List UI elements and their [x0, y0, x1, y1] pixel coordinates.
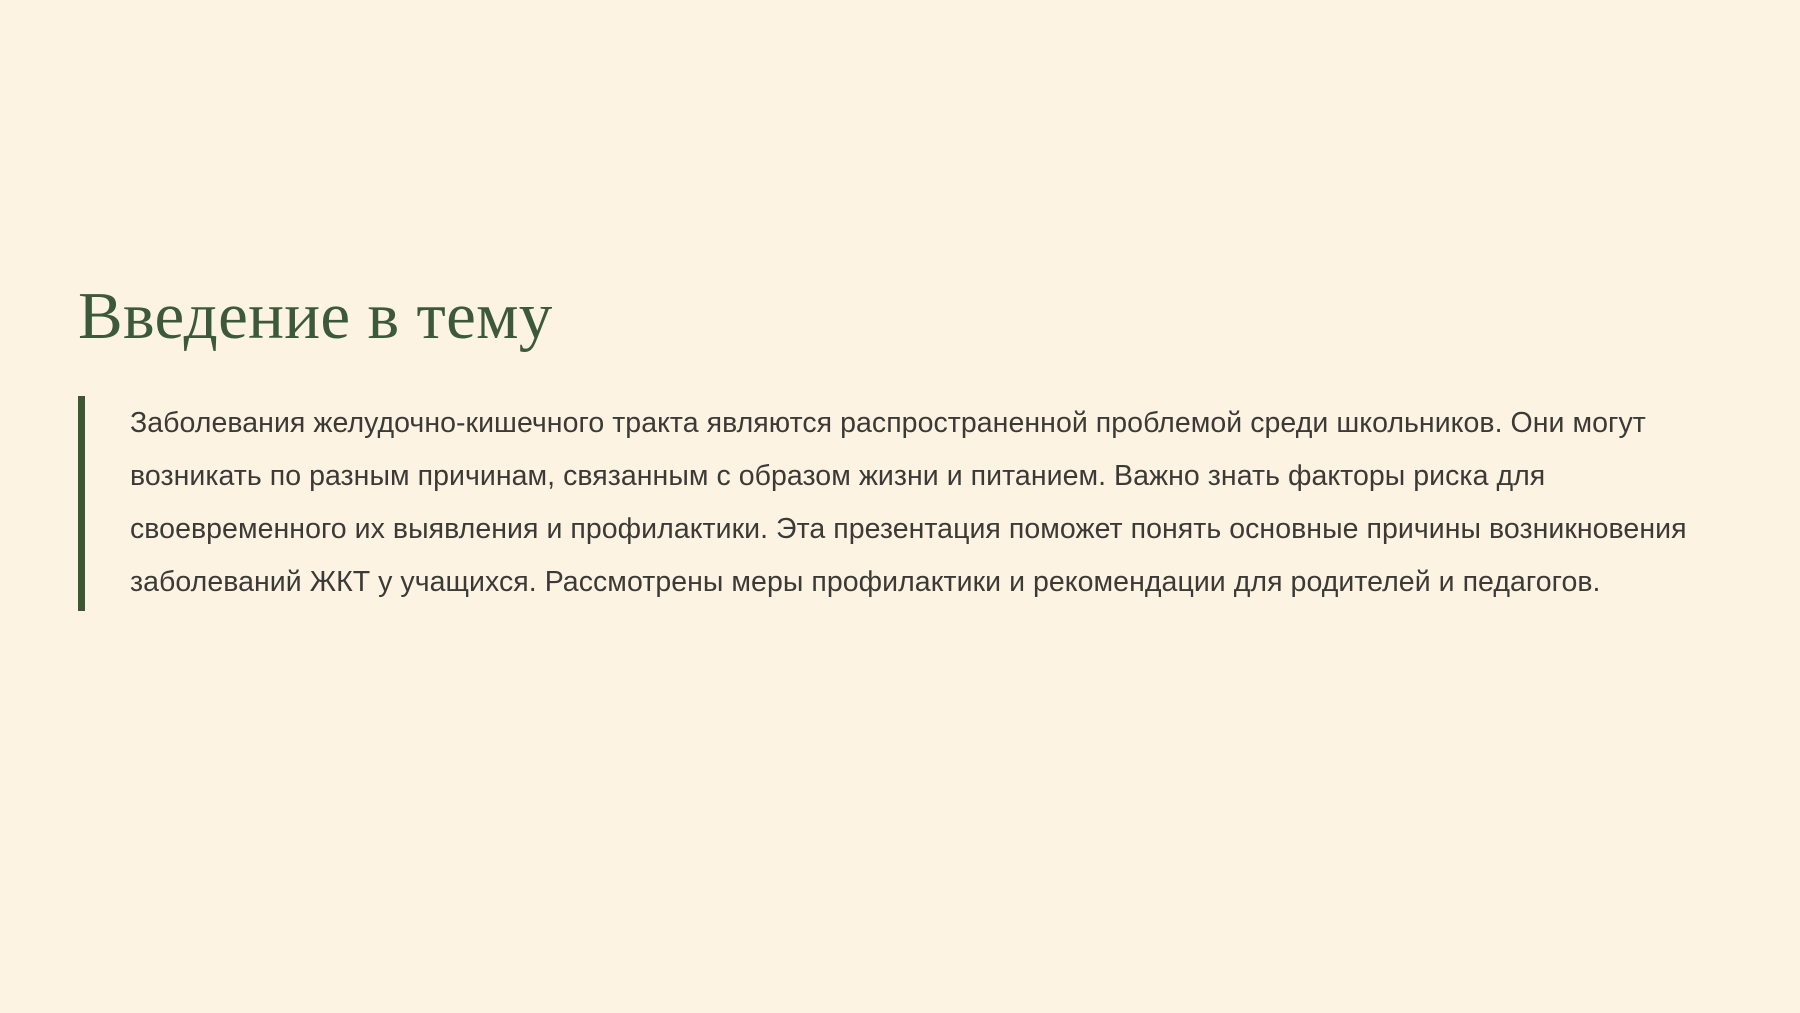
body-quote-block: Заболевания желудочно-кишечного тракта я… — [78, 396, 1728, 611]
slide-content: Введение в тему Заболевания желудочно-ки… — [78, 280, 1728, 611]
accent-bar — [78, 396, 85, 611]
body-paragraph: Заболевания желудочно-кишечного тракта я… — [130, 397, 1720, 609]
slide: Введение в тему Заболевания желудочно-ки… — [0, 0, 1800, 1013]
body-text-container: Заболевания желудочно-кишечного тракта я… — [85, 396, 1728, 611]
page-title: Введение в тему — [78, 280, 1728, 352]
